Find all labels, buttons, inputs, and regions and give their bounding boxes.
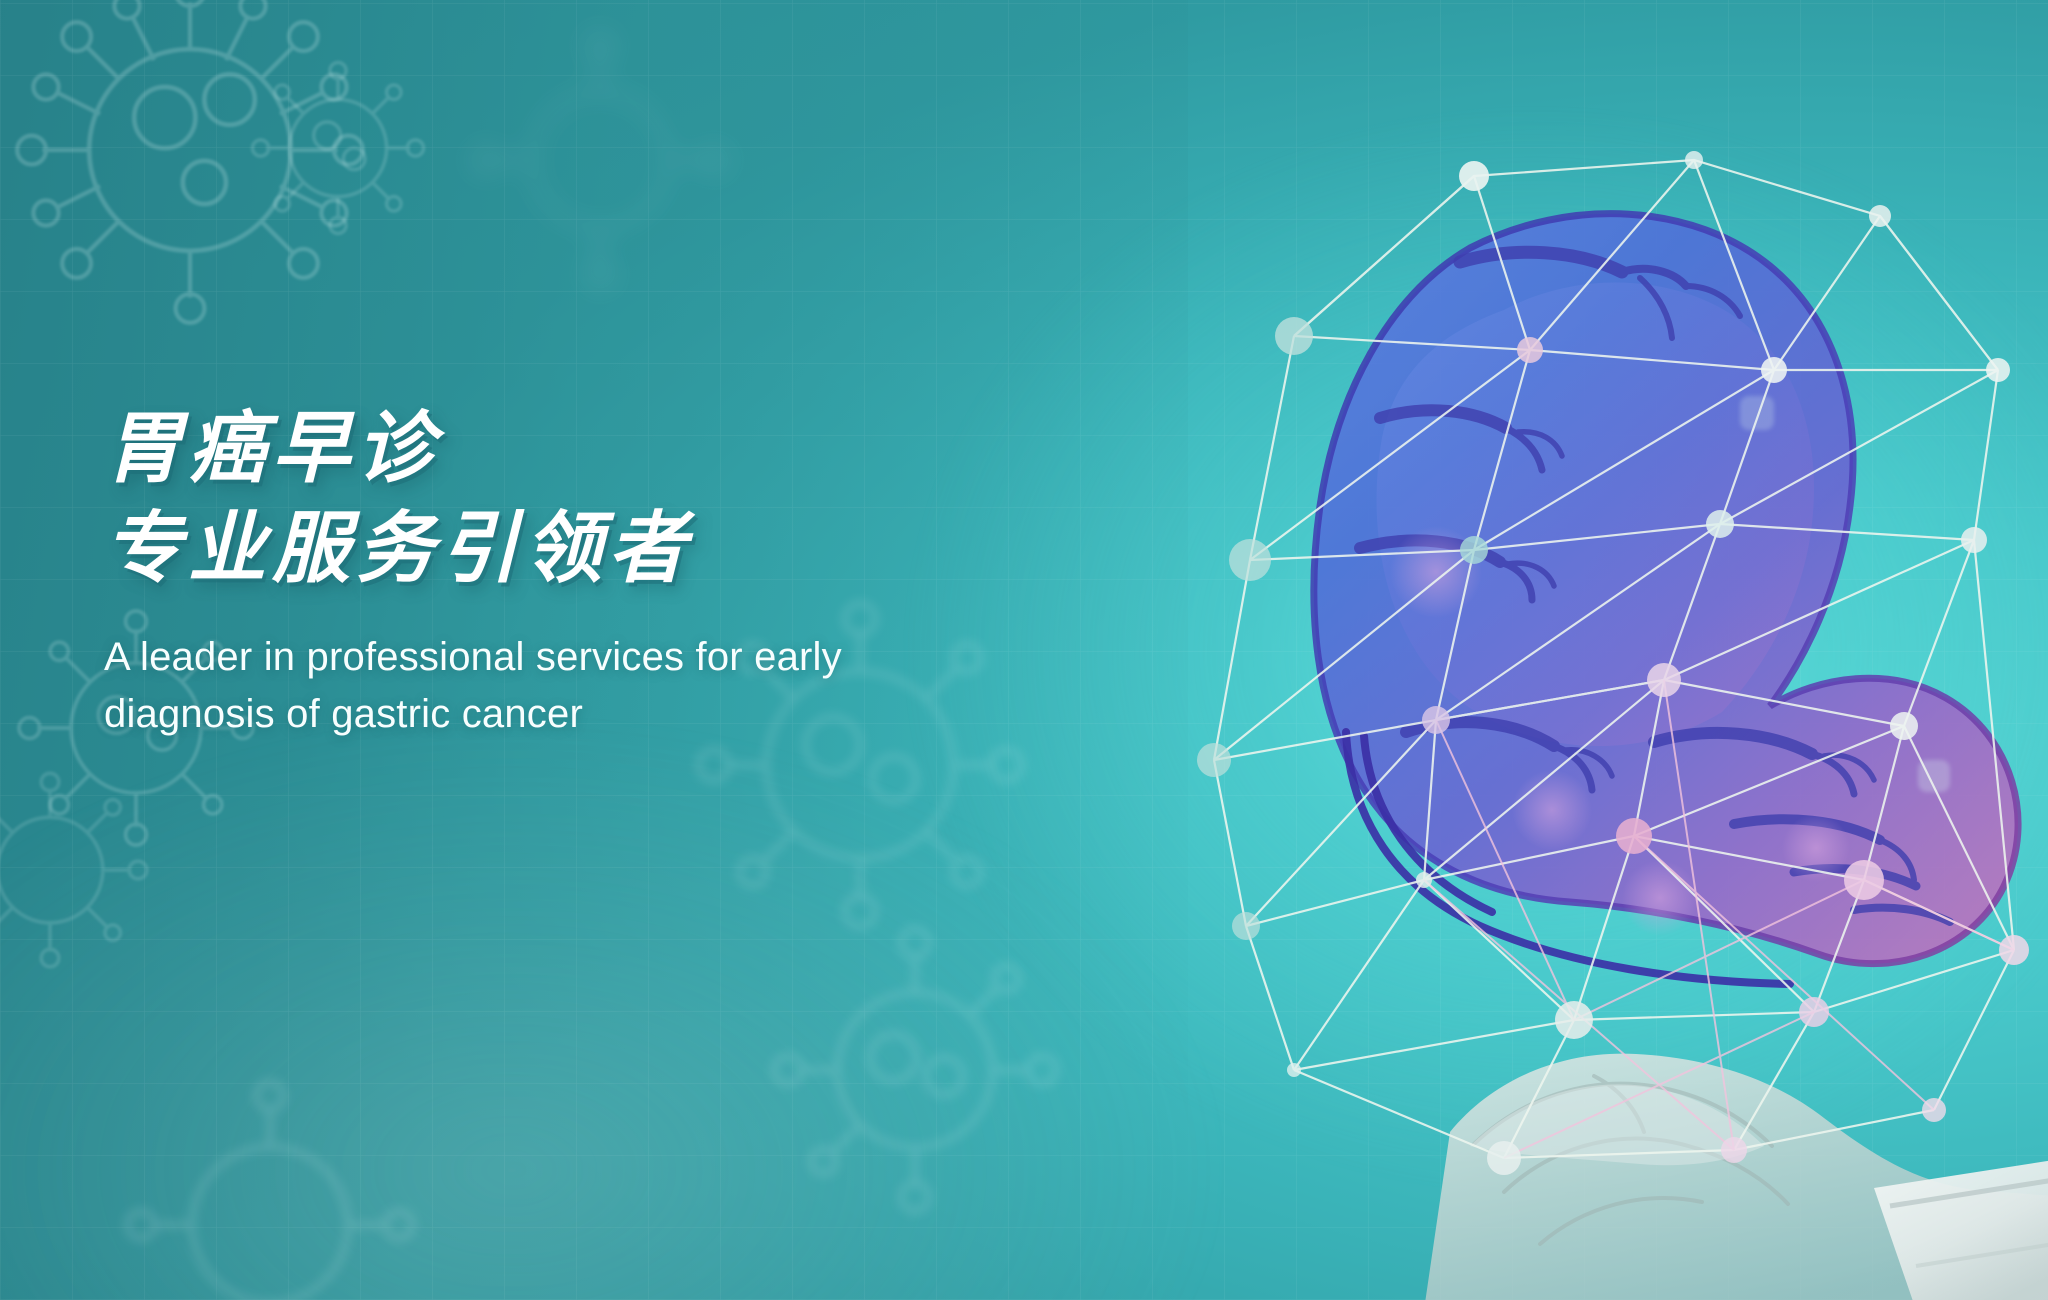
hero-banner: 胃癌早诊 专业服务引领者 A leader in professional se… (0, 0, 2048, 1300)
vignette-overlay (0, 0, 2048, 1300)
